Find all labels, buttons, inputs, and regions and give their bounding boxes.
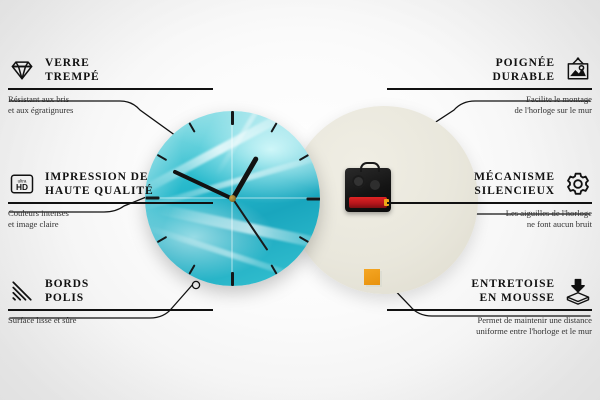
feature-desc-line1: Résistant aux bris xyxy=(8,94,213,106)
clock-tick xyxy=(232,199,234,287)
clock-tick xyxy=(232,111,234,199)
feature-title-line1: POIGNÉE xyxy=(492,56,555,70)
picture-frame-hanger-icon xyxy=(564,56,592,84)
ultra-hd-icon: ultra HD xyxy=(8,170,36,198)
divider xyxy=(387,88,592,90)
diamond-icon xyxy=(8,56,36,84)
feature-entretoise-mousse: ENTRETOISE EN MOUSSE Permet de maintenir… xyxy=(387,277,592,338)
divider xyxy=(8,88,213,90)
infographic-canvas: VERRE TREMPÉ Résistant aux bris et aux é… xyxy=(0,0,600,400)
feature-title-line2: TREMPÉ xyxy=(45,70,100,84)
polished-edge-icon xyxy=(8,277,36,305)
feature-desc-line1: Facilite le montage xyxy=(387,94,592,106)
feature-desc-line2: uniforme entre l'horloge et le mur xyxy=(387,326,592,338)
feature-desc-line1: Couleurs intenses xyxy=(8,208,213,220)
feature-desc-line1: Permet de maintenir une distance xyxy=(387,315,592,327)
ultra-hd-icon-main-text: HD xyxy=(16,182,28,192)
divider xyxy=(387,202,592,204)
feature-impression-haute-qualite: ultra HD IMPRESSION DE HAUTE QUALITÉ Cou… xyxy=(8,170,213,231)
feature-desc-line2: de l'horloge sur le mur xyxy=(387,105,592,117)
clock-tick xyxy=(233,198,321,200)
feature-mecanisme-silencieux: MÉCANISME SILENCIEUX Les aiguilles de l'… xyxy=(387,170,592,231)
feature-title-line1: IMPRESSION DE xyxy=(45,170,154,184)
feature-desc-line2: et image claire xyxy=(8,219,213,231)
divider xyxy=(8,202,213,204)
feature-desc-line2: ne font aucun bruit xyxy=(387,219,592,231)
foam-spacer xyxy=(364,269,380,285)
feature-poignee-durable: POIGNÉE DURABLE Facilite le montage de l… xyxy=(387,56,592,117)
feature-title-line1: VERRE xyxy=(45,56,100,70)
feature-desc-line1: Les aiguilles de l'horloge xyxy=(387,208,592,220)
feature-title-line1: BORDS xyxy=(45,277,89,291)
feature-verre-trempe: VERRE TREMPÉ Résistant aux bris et aux é… xyxy=(8,56,213,117)
gear-icon xyxy=(564,170,592,198)
mechanism-dial-secondary xyxy=(370,180,380,190)
mechanism-dial xyxy=(352,175,365,188)
foam-spacer-icon xyxy=(564,277,592,305)
feature-title-line2: POLIS xyxy=(45,291,89,305)
feature-title-line2: DURABLE xyxy=(492,70,555,84)
feature-desc-line2: et aux égratignures xyxy=(8,105,213,117)
feature-title-line1: ENTRETOISE xyxy=(471,277,555,291)
feature-bords-polis: BORDS POLIS Surface lisse et sûre xyxy=(8,277,213,326)
feature-title-line2: EN MOUSSE xyxy=(471,291,555,305)
feature-title-line2: SILENCIEUX xyxy=(474,184,555,198)
clock-mechanism xyxy=(345,168,391,212)
divider xyxy=(387,309,592,311)
feature-title-line1: MÉCANISME xyxy=(474,170,555,184)
feature-title-line2: HAUTE QUALITÉ xyxy=(45,184,154,198)
battery xyxy=(349,197,387,208)
divider xyxy=(8,309,213,311)
clock-center-cap xyxy=(229,195,236,202)
feature-desc-line1: Surface lisse et sûre xyxy=(8,315,213,327)
